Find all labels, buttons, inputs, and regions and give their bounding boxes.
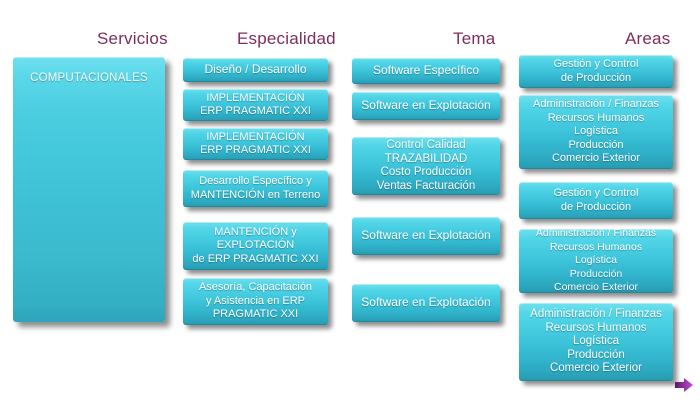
tema-box-label: Software en Explotación xyxy=(356,296,495,310)
areas-box[interactable]: Administración / Finanzas Recursos Human… xyxy=(519,303,673,381)
areas-box-label: Administración / Finanzas Recursos Human… xyxy=(531,227,661,295)
especialidad-box-label: Desarrollo Específico y MANTENCIÓN en Te… xyxy=(186,175,325,202)
column-header-especialidad: Especialidad xyxy=(237,29,336,48)
tema-box[interactable]: Software en Explotación xyxy=(352,217,500,255)
especialidad-box-label: Diseño / Desarrollo xyxy=(199,63,311,77)
especialidad-box-label: Asesoría, Capacitación y Asistencia en E… xyxy=(194,281,317,322)
tema-box-label: Control Calidad TRAZABILIDAD Costo Produ… xyxy=(372,139,480,193)
tema-box-label: Software en Explotación xyxy=(356,99,495,113)
areas-box-label: Gestión y Control de Producción xyxy=(549,187,644,214)
areas-box[interactable]: Administración / Finanzas Recursos Human… xyxy=(519,95,673,169)
especialidad-box[interactable]: Desarrollo Específico y MANTENCIÓN en Te… xyxy=(183,170,328,207)
tema-box[interactable]: Software en Explotación xyxy=(352,284,500,322)
next-arrow-icon[interactable] xyxy=(674,377,694,398)
areas-box-label: Gestión y Control de Producción xyxy=(549,58,644,85)
column-header-servicios: Servicios xyxy=(97,29,168,48)
especialidad-box[interactable]: Diseño / Desarrollo xyxy=(183,58,328,82)
column-header-areas: Areas xyxy=(625,29,670,48)
areas-box-label: Administración / Finanzas Recursos Human… xyxy=(525,308,667,376)
especialidad-box[interactable]: Asesoría, Capacitación y Asistencia en E… xyxy=(183,278,328,325)
slide-canvas: ServiciosEspecialidadTemaAreas COMPUTACI… xyxy=(0,0,700,400)
areas-box[interactable]: Gestión y Control de Producción xyxy=(519,182,673,219)
servicios-panel-label: COMPUTACIONALES xyxy=(30,57,148,85)
especialidad-box[interactable]: MANTENCIÓN y EXPLOTACIÓN de ERP PRAGMATI… xyxy=(183,222,328,270)
especialidad-box[interactable]: IMPLEMENTACIÓN ERP PRAGMATIC XXI xyxy=(183,128,328,160)
tema-box[interactable]: Software Específico xyxy=(352,58,500,84)
tema-box-label: Software Específico xyxy=(368,64,484,78)
areas-box-label: Administración / Finanzas Recursos Human… xyxy=(528,98,664,166)
areas-box[interactable]: Administración / Finanzas Recursos Human… xyxy=(519,229,673,293)
servicios-panel[interactable]: COMPUTACIONALES xyxy=(13,57,165,322)
especialidad-box-label: IMPLEMENTACIÓN ERP PRAGMATIC XXI xyxy=(195,131,316,158)
especialidad-box-label: IMPLEMENTACIÓN ERP PRAGMATIC XXI xyxy=(195,92,316,119)
tema-box[interactable]: Control Calidad TRAZABILIDAD Costo Produ… xyxy=(352,137,500,195)
tema-box[interactable]: Software en Explotación xyxy=(352,92,500,120)
areas-box[interactable]: Gestión y Control de Producción xyxy=(519,55,673,88)
tema-box-label: Software en Explotación xyxy=(356,229,495,243)
especialidad-box[interactable]: IMPLEMENTACIÓN ERP PRAGMATIC XXI xyxy=(183,89,328,121)
column-header-tema: Tema xyxy=(453,29,495,48)
especialidad-box-label: MANTENCIÓN y EXPLOTACIÓN de ERP PRAGMATI… xyxy=(187,226,323,267)
